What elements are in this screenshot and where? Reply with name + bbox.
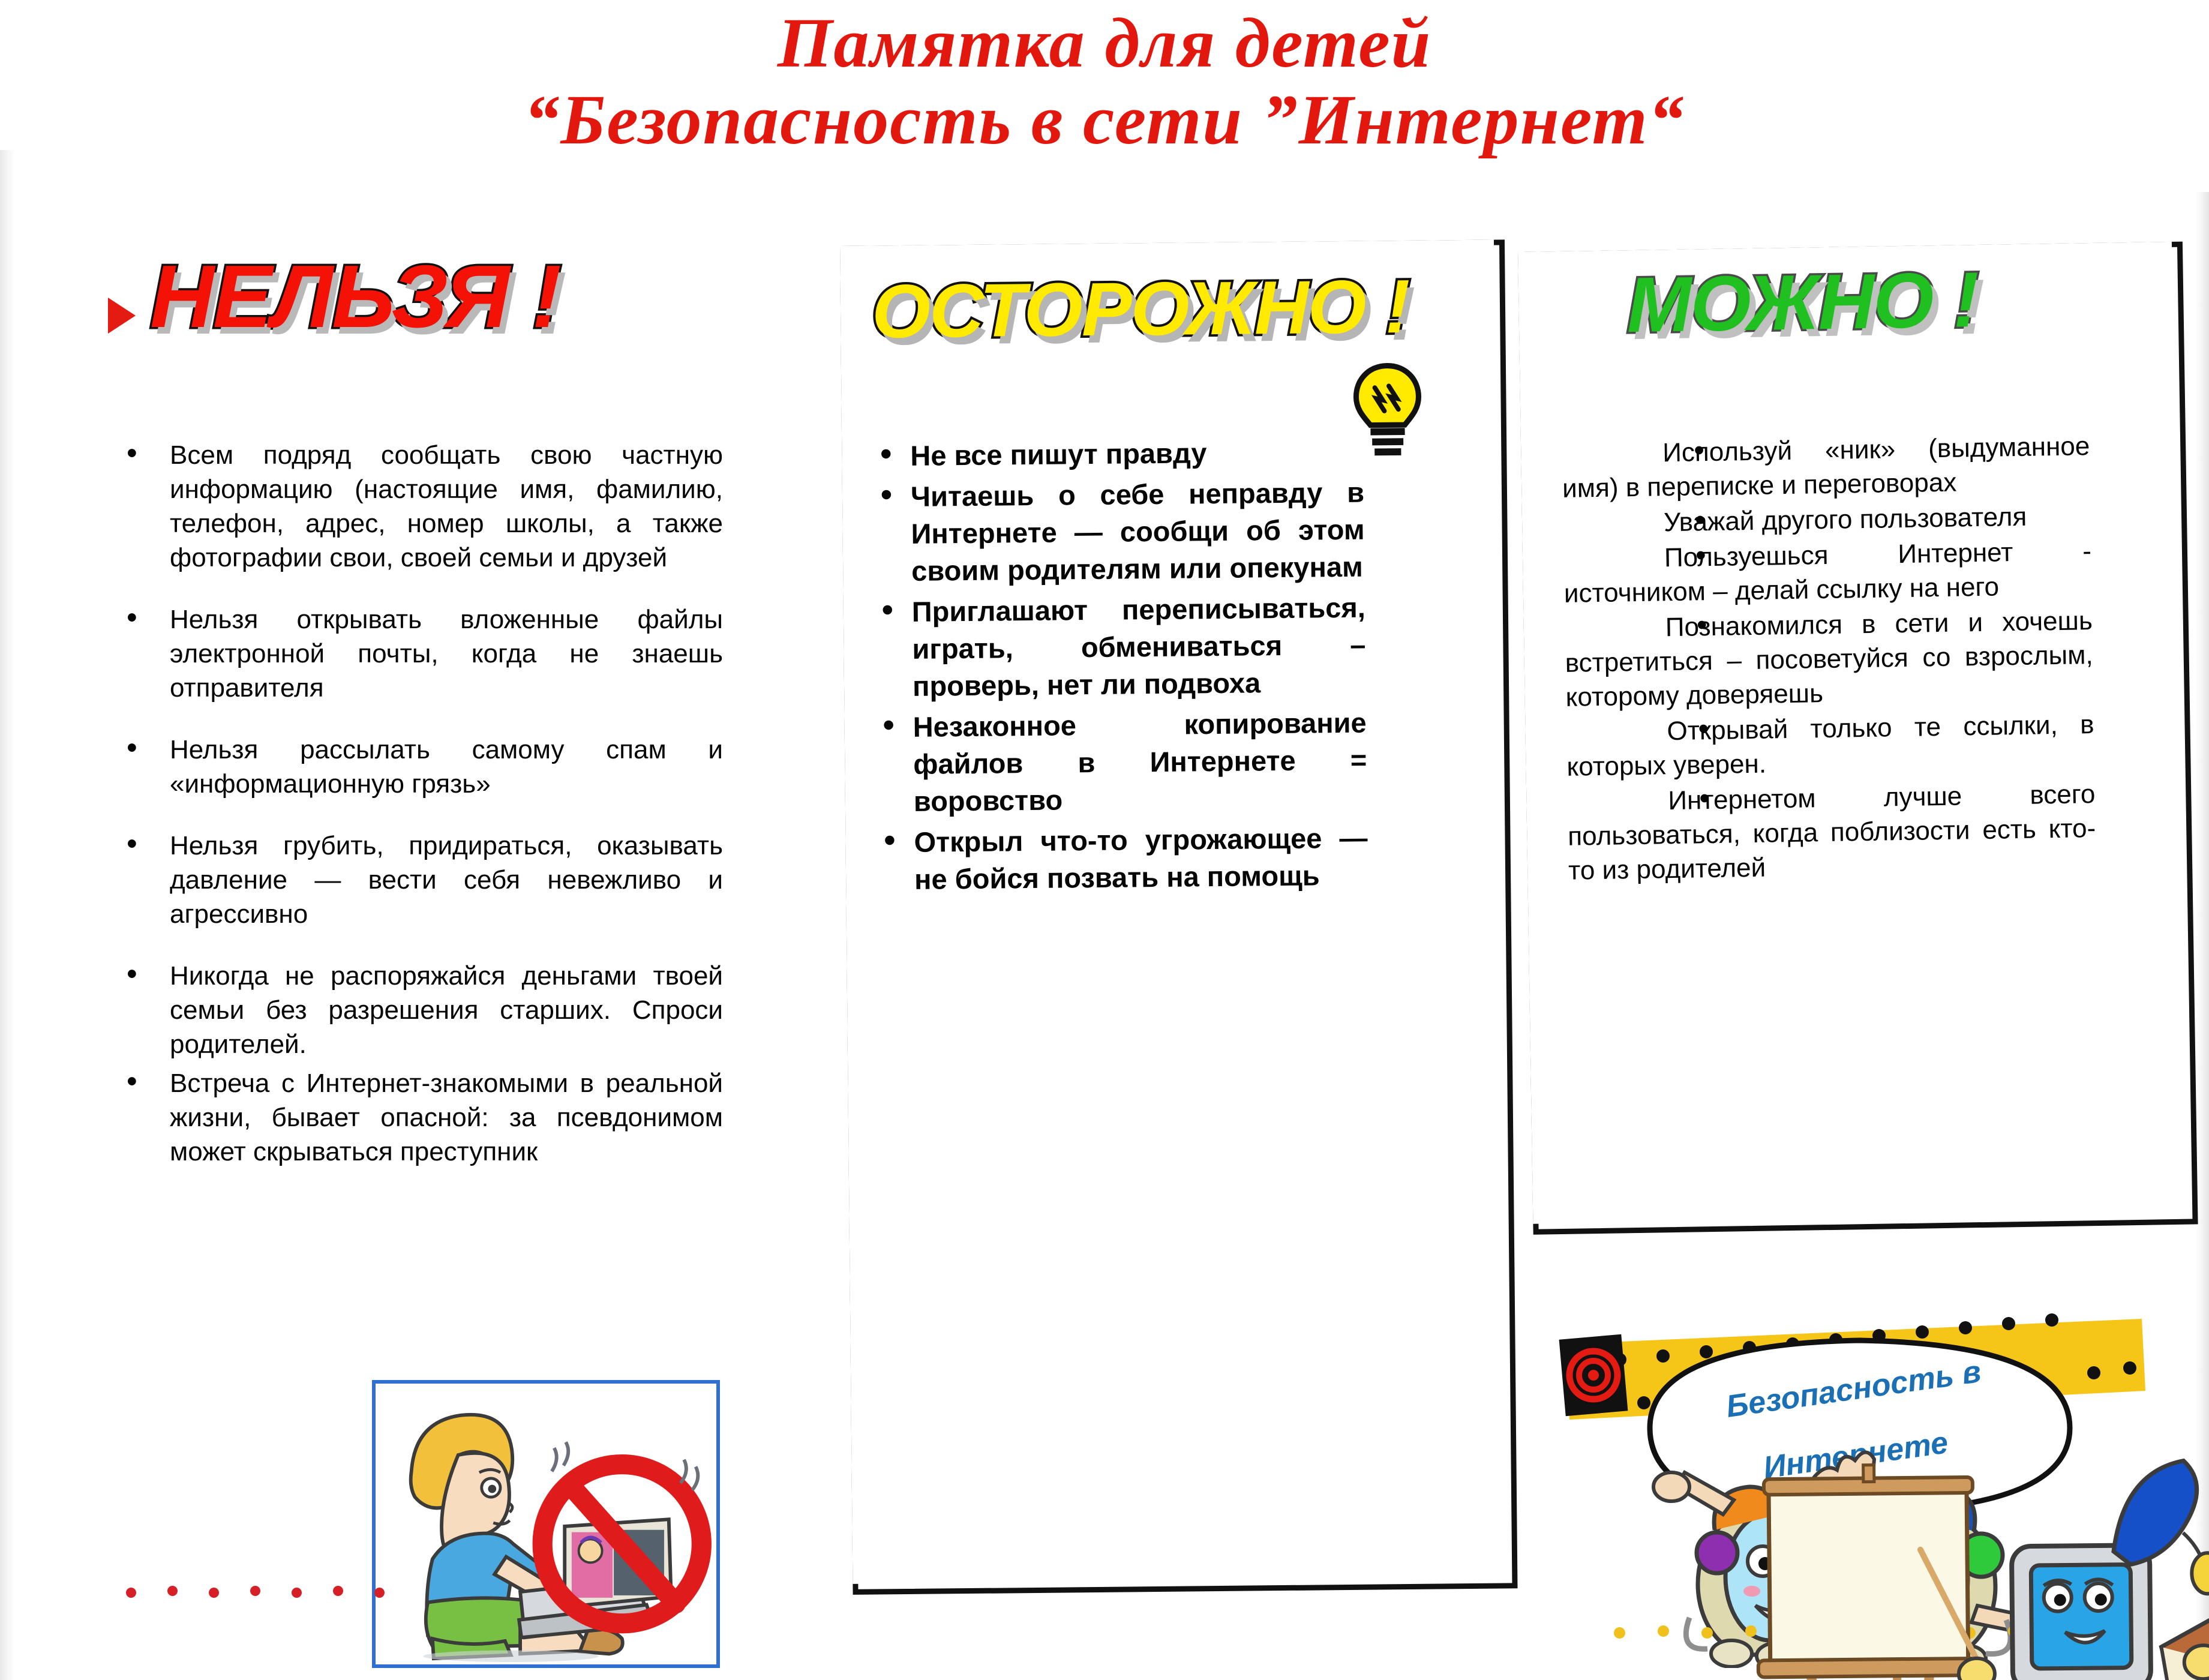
decor-dot	[374, 1588, 385, 1598]
list-item: Открывай только те ссылки, в которых уве…	[1566, 707, 2095, 784]
panel-caution: ОСТОРОЖНО ! Не все пишут правду Читаешь …	[840, 240, 1506, 1584]
list-forbidden: Всем подряд сообщать свою частную информ…	[123, 438, 723, 1196]
list-item: Нельзя грубить, придираться, оказывать д…	[123, 829, 723, 931]
decor-dot	[250, 1586, 260, 1596]
list-item: Читаешь о себе неправду в Интернете — со…	[878, 474, 1365, 590]
poster-title: Памятка для детей “Безопасность в сети ”…	[0, 0, 2209, 198]
heading-caution: ОСТОРОЖНО !	[871, 266, 1409, 353]
list-item: Всем подряд сообщать свою частную информ…	[123, 438, 723, 575]
decor-dot	[1658, 1625, 1669, 1637]
heading-allowed: МОЖНО !	[1626, 257, 1979, 347]
list-item: Никогда не распоряжайся деньгами твоей с…	[123, 959, 723, 1061]
page-edge-left	[0, 150, 16, 1680]
list-item: Пользуешься Интернет - источником – дела…	[1563, 534, 2093, 611]
list-caution: Не все пишут правду Читаешь о себе непра…	[878, 433, 1368, 902]
list-allowed: Используй «ник» (выдуманное имя) в переп…	[1562, 429, 2097, 889]
list-item: Познакомился в сети и хочешь встретиться…	[1564, 604, 2094, 715]
heading-forbidden: НЕЛЬЗЯ !	[150, 249, 560, 345]
list-item: Нельзя открывать вложенные файлы электро…	[123, 602, 723, 705]
decor-dot	[209, 1588, 219, 1598]
decor-dot	[1701, 1627, 1713, 1639]
title-line-1: Памятка для детей	[0, 0, 2209, 82]
computer-teacher-easel-illustration	[1739, 1426, 2209, 1680]
red-dot-decoration	[126, 1584, 385, 1598]
list-item: Не все пишут правду	[878, 433, 1364, 475]
target-icon	[1559, 1334, 1628, 1417]
list-item: Используй «ник» (выдуманное имя) в переп…	[1562, 429, 2091, 506]
panel-allowed: МОЖНО ! Используй «ник» (выдуманное имя)…	[1518, 242, 2187, 1224]
decor-dot	[1614, 1627, 1625, 1639]
list-item: Нельзя рассылать самому спам и «информац…	[123, 733, 723, 801]
decor-dot	[333, 1586, 343, 1596]
boy-with-laptop-prohibition-illustration	[372, 1380, 720, 1668]
decor-dot	[292, 1588, 302, 1598]
decor-dot	[126, 1588, 136, 1598]
list-item: Интернетом лучше всего пользоваться, ког…	[1567, 777, 2097, 888]
right-arrow-icon	[108, 298, 136, 334]
decor-dot	[167, 1586, 178, 1596]
list-item: Приглашают переписываться, играть, обмен…	[880, 589, 1367, 706]
title-line-2: “Безопасность в сети ”Интернет“	[0, 82, 2209, 158]
list-item: Открыл что-то угрожающее — не бойся позв…	[881, 820, 1368, 899]
list-item: Незаконное копирование файлов в Интернет…	[880, 704, 1367, 821]
poster-canvas: Памятка для детей “Безопасность в сети ”…	[0, 0, 2209, 1680]
list-item: Встреча с Интернет-знакомыми в реальной …	[123, 1066, 723, 1169]
